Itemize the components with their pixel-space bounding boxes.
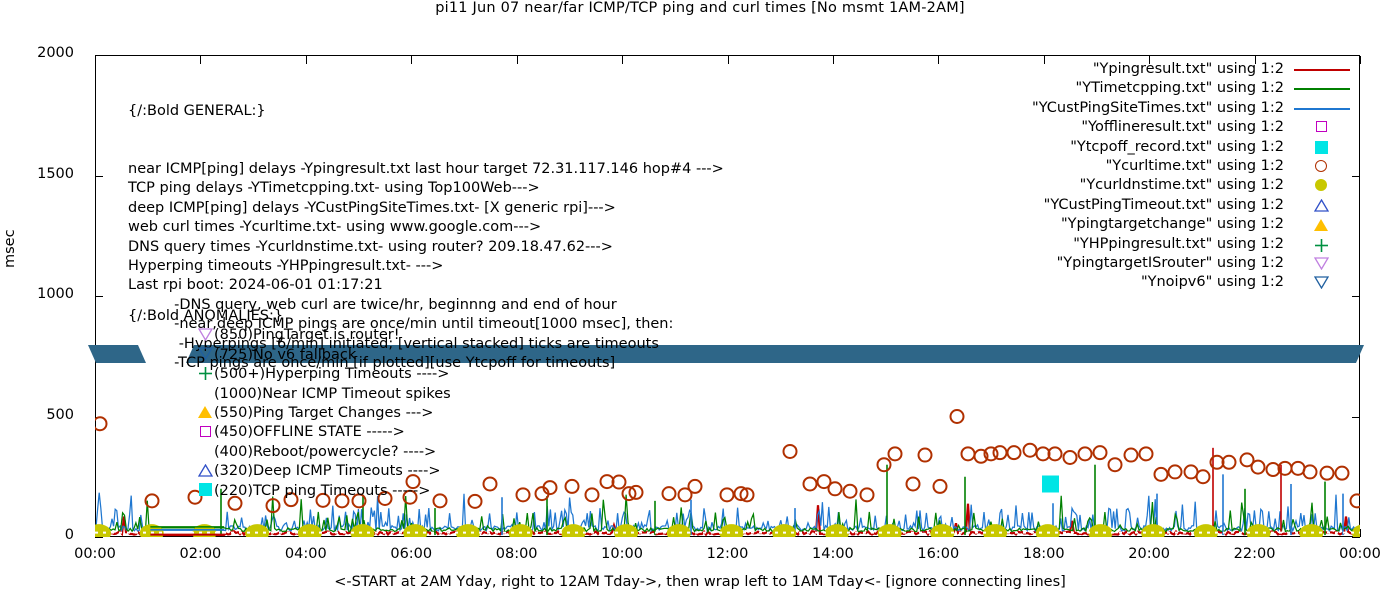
legend-line-swatch xyxy=(1294,108,1350,110)
curl-point xyxy=(1094,446,1107,459)
page-title: pi11 Jun 07 near/far ICMP/TCP ping and c… xyxy=(0,0,1400,16)
x-tick-mark xyxy=(1360,529,1361,537)
legend-label: "Ypingresult.txt" using 1:2 xyxy=(1093,60,1284,79)
y-tick-label: 1500 xyxy=(20,166,74,182)
curl-point xyxy=(689,480,702,493)
curl-point xyxy=(1079,447,1092,460)
legend-item[interactable]: "Ypingresult.txt" using 1:2 xyxy=(1032,60,1352,79)
legend-item[interactable]: "YCustPingTimeout.txt" using 1:2 xyxy=(1032,196,1352,215)
curl-point xyxy=(829,482,842,495)
legend-item[interactable]: "Ypingtargetchange" using 1:2 xyxy=(1032,215,1352,234)
triangle-up-open-icon xyxy=(196,464,214,481)
curl-point xyxy=(663,487,676,500)
legend-item[interactable]: "YHPpingresult.txt" using 1:2 xyxy=(1032,235,1352,254)
legend-label: "Ynoipv6" using 1:2 xyxy=(1141,273,1284,292)
anomaly-label: (400)Reboot/powercycle? ----> xyxy=(214,443,436,462)
curl-point xyxy=(1155,468,1168,481)
y-tick-label: 2000 xyxy=(20,45,74,61)
curl-point xyxy=(1125,449,1138,462)
legend-line-swatch xyxy=(1294,69,1350,71)
curl-point xyxy=(878,458,891,471)
curl-point xyxy=(586,488,599,501)
triangle-down-open-icon xyxy=(1312,276,1330,293)
curl-point xyxy=(566,480,579,493)
legend-key xyxy=(1290,138,1352,157)
legend-item[interactable]: "YTimetcpping.txt" using 1:2 xyxy=(1032,79,1352,98)
anomalies-heading: {/:Bold ANOMALIES:} xyxy=(128,307,451,326)
curl-point xyxy=(1267,463,1280,476)
legend-item[interactable]: "Ynoipv6" using 1:2 xyxy=(1032,273,1352,292)
dns-point xyxy=(561,524,585,537)
x-tick-label: 10:00 xyxy=(587,546,657,562)
legend-label: "YHPpingresult.txt" using 1:2 xyxy=(1073,235,1284,254)
x-tick-label: 22:00 xyxy=(1220,546,1290,562)
anomaly-label: (500+)Hyperping Timeouts ----> xyxy=(214,365,449,384)
legend-key xyxy=(1290,118,1352,137)
legend-key xyxy=(1290,196,1352,215)
curl-point xyxy=(1197,470,1210,483)
legend-item[interactable]: "Ytcpoff_record.txt" using 1:2 xyxy=(1032,138,1352,157)
anomaly-item: (400)Reboot/powercycle? ----> xyxy=(128,443,451,462)
curl-point xyxy=(861,488,874,501)
anomaly-label: (725)No v6 fallback xyxy=(214,346,356,365)
curl-point xyxy=(994,446,1007,459)
curl-point xyxy=(919,449,932,462)
general-line: Last rpi boot: 2024-06-01 01:17:21 xyxy=(128,276,724,295)
curl-point xyxy=(962,447,975,460)
anomaly-label: (450)OFFLINE STATE -----> xyxy=(214,423,405,442)
triangle-up-filled-icon xyxy=(1312,218,1330,236)
legend-key xyxy=(1290,215,1352,234)
legend-key xyxy=(1290,79,1352,98)
general-line: deep ICMP[ping] delays -YCustPingSiteTim… xyxy=(128,199,724,218)
y-tick-label: 1000 xyxy=(20,286,74,302)
series-ycurldnstime xyxy=(95,524,1360,537)
legend-key xyxy=(1290,157,1352,176)
triangle-down-open-icon xyxy=(196,347,214,364)
legend-label: "YCustPingSiteTimes.txt" using 1:2 xyxy=(1032,99,1284,118)
legend-label: "YCustPingTimeout.txt" using 1:2 xyxy=(1044,196,1284,215)
curl-point xyxy=(951,410,964,423)
x-tick-label: 16:00 xyxy=(903,546,973,562)
legend-line-swatch xyxy=(1294,88,1350,90)
anomaly-item: (500+)Hyperping Timeouts ----> xyxy=(128,365,451,384)
curl-point xyxy=(784,445,797,458)
x-tick-label: 04:00 xyxy=(271,546,341,562)
curl-point xyxy=(1336,467,1349,480)
general-line: web curl times -Ycurltime.txt- using www… xyxy=(128,218,724,237)
legend-item[interactable]: "Ycurltime.txt" using 1:2 xyxy=(1032,157,1352,176)
curl-point xyxy=(907,477,920,490)
anomaly-label: (320)Deep ICMP Timeouts ----> xyxy=(214,462,441,481)
x-tick-label: 08:00 xyxy=(482,546,552,562)
x-tick-label: 00:00 xyxy=(60,546,130,562)
anomaly-item: (725)No v6 fallback xyxy=(128,346,451,365)
anomaly-label: (550)Ping Target Changes ---> xyxy=(214,404,433,423)
dns-point xyxy=(456,524,480,537)
legend-item[interactable]: "YpingtargetISrouter" using 1:2 xyxy=(1032,254,1352,273)
legend-label: "Ycurltime.txt" using 1:2 xyxy=(1106,157,1284,176)
legend-key xyxy=(1290,99,1352,118)
curl-point xyxy=(469,495,482,508)
anomaly-item: (320)Deep ICMP Timeouts ----> xyxy=(128,462,451,481)
curl-point xyxy=(1169,465,1182,478)
triangle-up-filled-icon xyxy=(196,405,214,423)
dns-point xyxy=(825,524,849,537)
chart-root: pi11 Jun 07 near/far ICMP/TCP ping and c… xyxy=(0,0,1400,600)
anomaly-label: (850)PingTarget is router! xyxy=(214,326,400,345)
x-tick-label: 06:00 xyxy=(376,546,446,562)
curl-point xyxy=(1024,444,1037,457)
anomaly-item: (550)Ping Target Changes ---> xyxy=(128,404,451,423)
legend-key xyxy=(1290,235,1352,254)
curl-point xyxy=(1292,462,1305,475)
curl-point xyxy=(804,477,817,490)
anomaly-item: (850)PingTarget is router! xyxy=(128,326,451,345)
legend-label: "Ytcpoff_record.txt" using 1:2 xyxy=(1070,138,1284,157)
legend-item[interactable]: "Ycurldnstime.txt" using 1:2 xyxy=(1032,176,1352,195)
y-tick-mark xyxy=(1352,537,1360,538)
dns-point xyxy=(772,524,796,537)
dns-point xyxy=(1352,524,1360,537)
curl-point xyxy=(721,488,734,501)
general-line: DNS query times -Ycurldnstime.txt- using… xyxy=(128,238,724,257)
tcp-timeout-marker xyxy=(1042,475,1059,492)
anomaly-item: (220)TCP ping Timeouts -----> xyxy=(128,482,451,501)
legend-item[interactable]: "Yofflineresult.txt" using 1:2 xyxy=(1032,118,1352,137)
curl-point xyxy=(934,480,947,493)
curl-point xyxy=(1064,451,1077,464)
square-open-icon xyxy=(196,426,214,441)
circle-open-icon xyxy=(1312,160,1330,176)
dns-point xyxy=(95,524,111,537)
plus-icon xyxy=(196,366,214,385)
x-tick-mark xyxy=(1360,56,1361,64)
curl-point xyxy=(1109,458,1122,471)
legend-label: "Yofflineresult.txt" using 1:2 xyxy=(1081,118,1284,137)
square-filled-icon xyxy=(196,483,214,500)
x-tick-label: 00:00 xyxy=(1325,546,1395,562)
anomaly-label: (220)TCP ping Timeouts -----> xyxy=(214,482,430,501)
anomaly-label: (1000)Near ICMP Timeout spikes xyxy=(214,385,451,404)
x-tick-label: 12:00 xyxy=(693,546,763,562)
legend-key xyxy=(1290,273,1352,292)
legend-key xyxy=(1290,176,1352,195)
x-tick-label: 14:00 xyxy=(798,546,868,562)
curl-point xyxy=(1252,461,1265,474)
triangle-down-open-icon xyxy=(1312,257,1330,274)
y-tick-label: 0 xyxy=(20,527,74,543)
curl-point xyxy=(1304,465,1317,478)
curl-point xyxy=(1008,446,1021,459)
general-line: near ICMP[ping] delays -Ypingresult.txt … xyxy=(128,160,724,179)
triangle-up-open-icon xyxy=(1312,199,1330,216)
y-axis-title: msec xyxy=(2,229,18,268)
curl-point xyxy=(95,417,107,430)
legend-key xyxy=(1290,254,1352,273)
curl-point xyxy=(889,447,902,460)
general-line: Hyperping timeouts -YHPpingresult.txt- -… xyxy=(128,257,724,276)
legend-key xyxy=(1290,60,1352,79)
square-filled-icon xyxy=(1312,141,1330,158)
y-tick-label: 500 xyxy=(20,407,74,423)
anomaly-item: (1000)Near ICMP Timeout spikes xyxy=(128,385,451,404)
legend-item[interactable]: "YCustPingSiteTimes.txt" using 1:2 xyxy=(1032,99,1352,118)
dns-point xyxy=(667,524,691,537)
circle-filled-icon xyxy=(1312,179,1330,195)
x-tick-label: 18:00 xyxy=(1009,546,1079,562)
general-heading: {/:Bold GENERAL:} xyxy=(128,102,724,121)
curl-point xyxy=(844,485,857,498)
anomaly-item: (450)OFFLINE STATE -----> xyxy=(128,423,451,442)
curl-point xyxy=(484,477,497,490)
y-tick-mark xyxy=(95,537,103,538)
legend-label: "Ycurldnstime.txt" using 1:2 xyxy=(1080,176,1284,195)
general-line: TCP ping delays -YTimetcpping.txt- using… xyxy=(128,179,724,198)
anomalies-list: (850)PingTarget is router!(725)No v6 fal… xyxy=(128,326,451,501)
legend-label: "Ypingtargetchange" using 1:2 xyxy=(1061,215,1284,234)
triangle-down-open-icon xyxy=(196,328,214,345)
curl-point xyxy=(1321,467,1334,480)
x-tick-label: 02:00 xyxy=(165,546,235,562)
square-open-icon xyxy=(1312,121,1330,136)
curl-point xyxy=(517,488,530,501)
legend: "Ypingresult.txt" using 1:2"YTimetcpping… xyxy=(1032,60,1352,293)
curl-point xyxy=(1351,494,1361,507)
legend-label: "YpingtargetISrouter" using 1:2 xyxy=(1057,254,1284,273)
x-axis-caption: <-START at 2AM Yday, right to 12AM Tday-… xyxy=(0,574,1400,590)
anomalies-block: {/:Bold ANOMALIES:} (850)PingTarget is r… xyxy=(128,307,451,501)
curl-point xyxy=(1140,447,1153,460)
legend-label: "YTimetcpping.txt" using 1:2 xyxy=(1076,79,1284,98)
x-tick-label: 20:00 xyxy=(1114,546,1184,562)
